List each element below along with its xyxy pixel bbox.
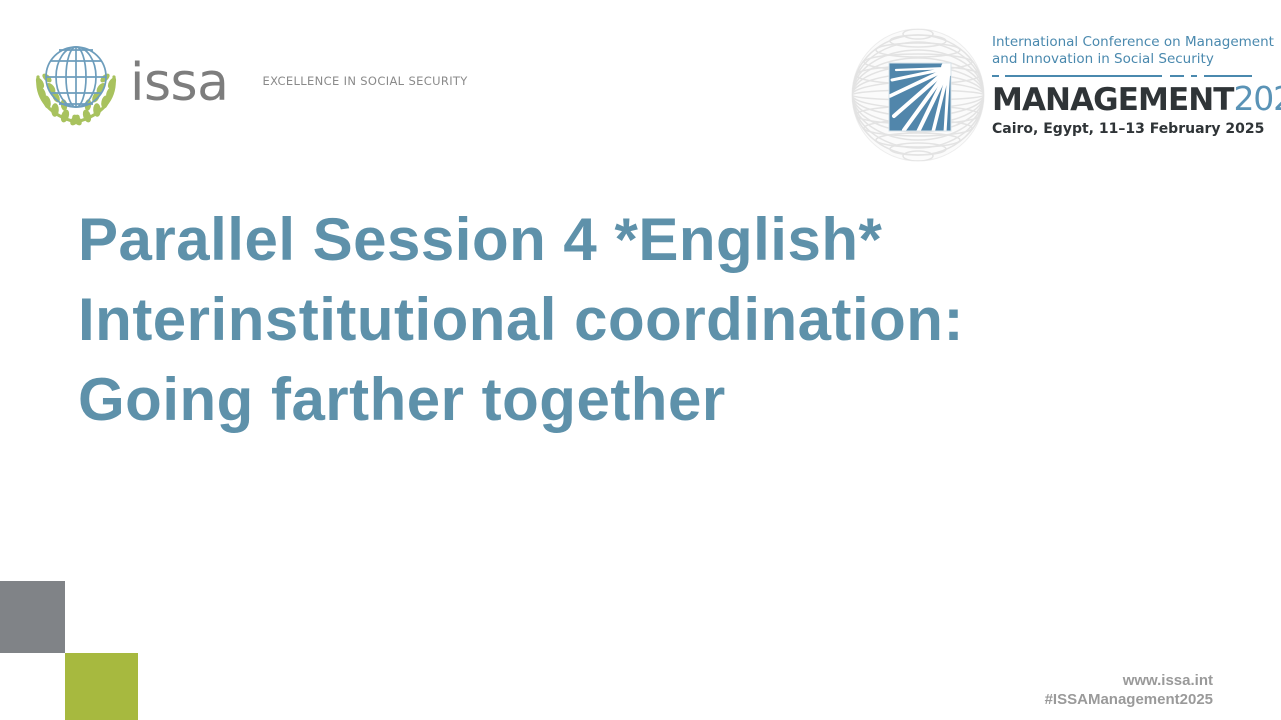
- conference-logo: International Conference on Management a…: [848, 22, 1268, 172]
- conference-subtitle: International Conference on Management a…: [992, 34, 1281, 69]
- conference-title-year: 2025: [1234, 79, 1281, 118]
- presentation-slide: issa EXCELLENCE IN SOCIAL SECURITY: [0, 0, 1281, 720]
- title-line-1: Parallel Session 4 *English*: [78, 200, 1138, 280]
- footer-hashtag: #ISSAManagement2025: [1045, 690, 1213, 709]
- page-title: Parallel Session 4 *English* Interinstit…: [78, 200, 1138, 440]
- conference-subtitle-line1: International Conference on Management: [992, 34, 1281, 51]
- conference-title-main: MANAGEMENT: [992, 82, 1234, 118]
- globe-laurel-icon: [28, 33, 124, 129]
- footer-website: www.issa.int: [1045, 671, 1213, 690]
- issa-logo: issa EXCELLENCE IN SOCIAL SECURITY: [28, 33, 438, 129]
- conference-place-date: Cairo, Egypt, 11–13 February 2025: [992, 121, 1281, 137]
- issa-tagline: EXCELLENCE IN SOCIAL SECURITY: [263, 74, 468, 88]
- issa-wordmark: issa: [130, 57, 229, 109]
- conference-globe-icon: [848, 22, 988, 168]
- conference-text-block: International Conference on Management a…: [992, 22, 1281, 137]
- footer: www.issa.int #ISSAManagement2025: [1045, 671, 1213, 709]
- title-line-2: Interinstitutional coordination:: [78, 280, 1138, 360]
- conference-divider-rule: [992, 74, 1252, 79]
- conference-title: MANAGEMENT2025: [992, 82, 1281, 116]
- conference-subtitle-line2: and Innovation in Social Security: [992, 51, 1281, 68]
- decorative-gray-block: [0, 581, 65, 653]
- decorative-green-block: [65, 653, 138, 720]
- title-line-3: Going farther together: [78, 360, 1138, 440]
